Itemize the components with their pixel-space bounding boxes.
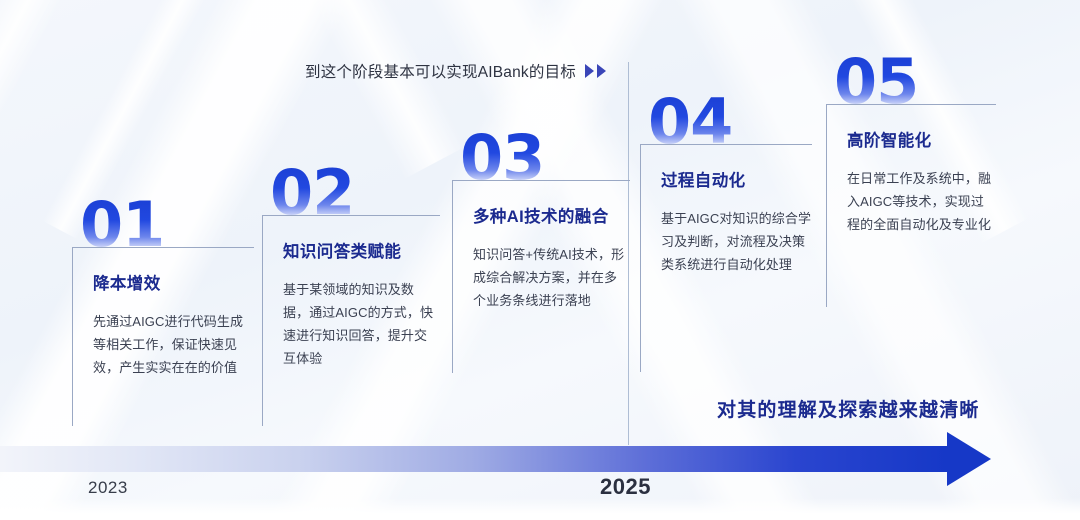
step-title-02: 知识问答类赋能 <box>283 238 440 262</box>
step-body-05: 高阶智能化 在日常工作及系统中，融入AIGC等技术，实现过程的全面自动化及专业化 <box>826 104 996 307</box>
step-number-02: 02 <box>270 164 440 221</box>
step-title-05: 高阶智能化 <box>847 127 996 151</box>
step-body-04: 过程自动化 基于AIGC对知识的综合学习及判断，对流程及决策类系统进行自动化处理 <box>640 144 812 372</box>
chevron-right-icon <box>597 64 606 78</box>
double-chevron-right-icon <box>585 64 606 78</box>
step-description-03: 知识问答+传统AI技术，形成综合解决方案，并在多个业务条线进行落地 <box>473 243 630 312</box>
step-body-03: 多种AI技术的融合 知识问答+传统AI技术，形成综合解决方案，并在多个业务条线进… <box>452 180 630 373</box>
step-body-02: 知识问答类赋能 基于某领域的知识及数据，通过AIGC的方式，快速进行知识回答，提… <box>262 215 440 426</box>
timeline-year-start: 2023 <box>88 478 128 498</box>
step-card-01: 01 降本增效 先通过AIGC进行代码生成等相关工作，保证快速见效，产生实实在在… <box>72 196 254 426</box>
step-number-03: 03 <box>460 129 630 186</box>
step-description-01: 先通过AIGC进行代码生成等相关工作，保证快速见效，产生实实在在的价值 <box>93 310 254 379</box>
timeline-year-end: 2025 <box>600 474 651 500</box>
step-body-01: 降本增效 先通过AIGC进行代码生成等相关工作，保证快速见效，产生实实在在的价值 <box>72 247 254 426</box>
step-number-04: 04 <box>648 93 812 150</box>
top-annotation: 到这个阶段基本可以实现AIBank的目标 <box>305 60 606 82</box>
tagline-text: 对其的理解及探索越来越清晰 <box>717 395 980 422</box>
step-card-05: 05 高阶智能化 在日常工作及系统中，融入AIGC等技术，实现过程的全面自动化及… <box>826 53 996 307</box>
step-title-03: 多种AI技术的融合 <box>473 203 630 227</box>
right-arrow-icon <box>947 432 991 486</box>
background-streak <box>0 0 67 257</box>
top-annotation-label: 到这个阶段基本可以实现AIBank的目标 <box>305 60 576 82</box>
chevron-right-icon <box>585 64 594 78</box>
step-title-01: 降本增效 <box>93 270 254 294</box>
step-number-01: 01 <box>80 196 254 253</box>
step-description-05: 在日常工作及系统中，融入AIGC等技术，实现过程的全面自动化及专业化 <box>847 167 996 236</box>
timeline-arrow <box>0 440 1080 480</box>
bottom-fade-overlay <box>0 498 1080 520</box>
step-number-05: 05 <box>834 53 996 110</box>
step-card-04: 04 过程自动化 基于AIGC对知识的综合学习及判断，对流程及决策类系统进行自动… <box>640 93 812 372</box>
background-streak <box>264 0 467 179</box>
step-title-04: 过程自动化 <box>661 167 812 191</box>
timeline-band <box>0 446 947 472</box>
step-card-02: 02 知识问答类赋能 基于某领域的知识及数据，通过AIGC的方式，快速进行知识回… <box>262 164 440 426</box>
step-card-03: 03 多种AI技术的融合 知识问答+传统AI技术，形成综合解决方案，并在多个业务… <box>452 129 630 373</box>
step-description-02: 基于某领域的知识及数据，通过AIGC的方式，快速进行知识回答，提升交互体验 <box>283 278 440 371</box>
slide-canvas: 到这个阶段基本可以实现AIBank的目标 01 降本增效 先通过AIGC进行代码… <box>0 0 1080 520</box>
step-description-04: 基于AIGC对知识的综合学习及判断，对流程及决策类系统进行自动化处理 <box>661 207 812 276</box>
